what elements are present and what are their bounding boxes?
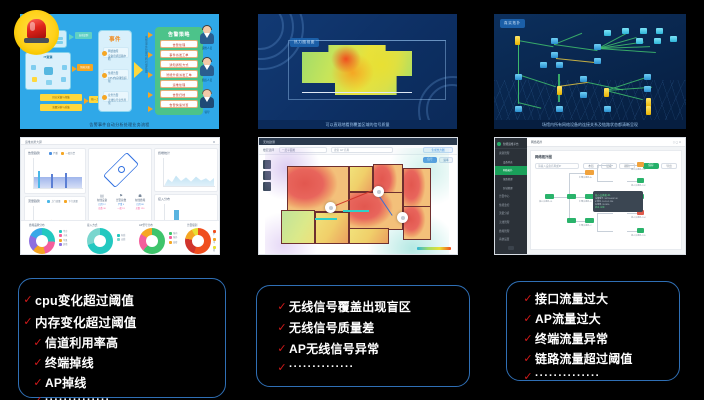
event-item-desc: CPU内存阈值超限: [104, 75, 128, 83]
panel-title: 终端统计: [155, 149, 217, 155]
role-label: 值班人员: [197, 78, 217, 82]
sidebar-item-resources[interactable]: 资源管理: [495, 149, 527, 158]
arrow-icon: [148, 32, 153, 38]
topology-node: [580, 76, 587, 82]
bullet-dot-icon: [102, 51, 107, 56]
list-item: ✓ 终端掉线: [31, 354, 225, 371]
sidebar-collapse-button[interactable]: [508, 246, 514, 250]
caption-text: 场馆内所有网络设备的连接关系及链路状态都清晰呈现: [494, 120, 686, 129]
list-item-label: AP掉线: [45, 374, 86, 391]
check-icon: ✓: [521, 333, 535, 344]
arrow-icon: [69, 34, 74, 40]
topology-node: [622, 28, 629, 34]
ap-marker[interactable]: [325, 202, 336, 213]
main-content: 网络拓扑 ◻ ▢ ✕ 网络拓扑图 请输入设备名称或IP 布局 层级 刷新 保存 …: [527, 138, 685, 254]
network-topology-screenshot: 智能运维平台 资源管理 设备列表 网络拓扑 链路管理 区域管理 告警中心 性能监…: [494, 137, 686, 255]
role-label: 运维人员: [197, 46, 217, 50]
topology-node: [551, 52, 558, 58]
arrow-icon: [148, 72, 153, 78]
list-item-label: 无线信号质量差: [289, 319, 374, 336]
floor-baseline: [302, 92, 412, 93]
caption-text: 告警事件自动分析处理业务流程: [20, 120, 219, 129]
topology-tree-node[interactable]: [637, 178, 644, 183]
flow-card-it-resources: IT资源: [25, 52, 71, 90]
tab-bar: 网络拓扑 ◻ ▢ ✕: [527, 138, 685, 147]
network-topology-slide: 真实拓扑: [494, 14, 686, 120]
sidebar-item-link-mgmt[interactable]: 链路管理: [495, 175, 527, 184]
check-icon: ✓: [21, 294, 35, 305]
stat-value-2: 总数 36: [93, 206, 111, 210]
page-title: 网络拓扑图: [535, 154, 552, 159]
check-icon: ✓: [521, 313, 535, 324]
list-item: ✓ 链路流量超过阈值: [521, 350, 679, 367]
toolbar-level-button[interactable]: 层级: [601, 163, 617, 169]
alarm-strategy-panel: 告警策略 告警处理 事件派发工单 通知通知方式 智能升级派发工单 运维处理 告警…: [155, 27, 203, 115]
list-item: ✓ 信道利用率高: [31, 334, 225, 351]
topology-node-label: 核心交换机-01: [539, 200, 552, 203]
list-item-ellipsis: ··············: [289, 361, 354, 373]
sidebar-item-terminals[interactable]: 终端管理: [495, 226, 527, 235]
donut-label: 接入方式: [87, 223, 97, 227]
topology-node-label: 汇聚交换机-A: [579, 176, 591, 179]
flow-tag-smart-link: 智能关联: [77, 64, 93, 71]
list-item-label: 链路流量超过阈值: [535, 350, 633, 367]
topology-node: [644, 86, 651, 92]
strategy-item: 通知通知方式: [160, 60, 198, 68]
sidebar-item-traffic[interactable]: 流量分析: [495, 209, 527, 218]
arrow-icon: [134, 62, 143, 78]
topology-node: [594, 58, 601, 64]
ap-marker[interactable]: [397, 212, 408, 223]
beacon-base: [24, 38, 49, 43]
sidebar-item-device-list[interactable]: 设备列表: [495, 158, 527, 167]
export-button[interactable]: 导出: [661, 163, 677, 169]
topology-tree-node[interactable]: [637, 162, 644, 167]
strategy-item: 智能升级派发工单: [160, 70, 198, 78]
arrow-icon: [148, 92, 153, 98]
topology-tree-node[interactable]: [567, 194, 576, 199]
check-icon: ✓: [521, 293, 535, 304]
list-item-label: 无线信号覆盖出现盲区: [289, 298, 411, 315]
topology-tree-node[interactable]: [585, 170, 594, 175]
bullet-dot-icon: [102, 73, 107, 78]
list-item: ✓ AP流量过大: [521, 310, 679, 327]
list-item: ✓ ··············: [521, 370, 679, 382]
topology-node-label: 接入交换机-101: [631, 168, 646, 171]
ap-marker[interactable]: [373, 186, 384, 197]
list-item-ellipsis: ··············: [535, 370, 600, 382]
traffic-alarm-card: ✓ 接口流量过大 ✓ AP流量过大 ✓ 终端流量异常 ✓ 链路流量超过阈值 ✓ …: [506, 281, 680, 381]
sidebar-item-area-mgmt[interactable]: 区域管理: [495, 183, 527, 192]
decor-grid: [494, 80, 686, 120]
window-title: 无线勘测: [259, 138, 457, 144]
topology-node-label: 接入交换机-102: [631, 184, 646, 187]
list-item-label: 接口流量过大: [535, 290, 608, 307]
topology-node: [604, 88, 609, 97]
event-item: 网络故障 设备宕机链路中断: [103, 47, 129, 58]
list-item: ✓ cpu变化超过阈值: [21, 290, 225, 309]
chart-legend: 上行流量 下行流量: [47, 199, 78, 203]
donut-legend: 室内 室外 高密: [169, 232, 177, 245]
donut-label: 终端品牌分布: [29, 223, 45, 227]
arrow-icon: [148, 106, 153, 112]
donut-legend: 有线 无线: [117, 234, 125, 243]
chart-legend: 严重 一般告警: [49, 151, 75, 155]
flow-card-it-resources-label: IT资源: [26, 55, 70, 59]
chart-panel-alarm-trend: 告警趋势 严重 一般告警: [24, 148, 86, 194]
sidebar-item-alarm-center[interactable]: 告警中心: [495, 192, 527, 201]
donut-label: AP型号分布: [139, 223, 153, 227]
topology-tree-node[interactable]: [545, 194, 554, 199]
topology-tree-node[interactable]: [637, 228, 644, 233]
topology-node-label: 汇聚交换机-B: [579, 200, 591, 203]
caption-text: 可以直观地看到覆盖区域的信号质量: [258, 120, 457, 129]
app-logo: 智能运维平台: [495, 138, 527, 149]
check-icon: ✓: [21, 316, 35, 327]
window-controls[interactable]: ◻ ▢ ✕: [673, 141, 681, 144]
check-icon: ✓: [275, 322, 289, 333]
topology-node-label: 接入交换机-105: [631, 234, 646, 237]
list-item-label: 终端掉线: [45, 354, 94, 371]
strategy-item: 告警归档: [160, 90, 198, 98]
search-input[interactable]: 请输入设备名称或IP: [535, 163, 579, 169]
donut-chart: [29, 228, 55, 254]
list-item-label: 终端流量异常: [535, 330, 608, 347]
list-item: ✓ 接口流量过大: [521, 290, 679, 307]
window-titlebar: 无线勘测: [259, 138, 457, 145]
check-icon: ✓: [275, 301, 289, 312]
list-item-label: cpu变化超过阈值: [35, 290, 134, 309]
list-item: ✓ AP掉线: [31, 374, 225, 391]
flow-tag-auto-identify: 自动识别: [75, 32, 92, 39]
event-item-desc: 无线信号业务异常: [104, 97, 128, 105]
topology-node: [580, 92, 587, 98]
avatar-male-icon: [199, 90, 215, 110]
list-item: ✓ 内存变化超过阈值: [21, 312, 225, 331]
tooltip-title: 核心交换机-01: [595, 193, 641, 197]
alarm-beacon-icon: [14, 10, 59, 55]
room-zone: [349, 228, 389, 244]
check-icon: ✓: [31, 395, 45, 400]
tooltip-row: 状态: 在线: [595, 207, 641, 210]
wifi-heatmap-screenshot: 无线勘测 楼层选择 一层平面图 搜索 AP 名称 生成热力图 信号 速率: [258, 137, 458, 255]
logo-mark-icon: [497, 142, 501, 146]
wall-highlight: [343, 210, 369, 212]
topology-node-label: 接入交换机-104: [631, 216, 646, 219]
beacon-dome: [27, 19, 46, 39]
window-title: 运维态势大屏: [21, 138, 219, 144]
caption-bar: 可以直观地看到覆盖区域的信号质量: [258, 120, 457, 129]
donut-label: 告警级别: [187, 223, 197, 227]
topology-node-label: 汇聚交换机-C: [579, 224, 592, 227]
topology-node: [540, 62, 547, 68]
chart-panel-terminal-stats: 终端统计: [154, 148, 218, 192]
room-zone: [403, 206, 431, 240]
donut-chart: [139, 228, 165, 254]
tab-network-topology[interactable]: 网络拓扑: [531, 140, 542, 144]
topology-node: [515, 106, 522, 112]
avatar-female-icon: [199, 58, 215, 78]
check-icon: ✓: [521, 371, 535, 382]
flow-card-traffic-collect: 流量分析与采集: [40, 104, 82, 111]
topology-node: [515, 74, 522, 80]
topology-node: [515, 36, 520, 45]
list-item-label: AP无线信号异常: [289, 340, 379, 357]
donut-legend: 华为 小米 苹果 其他: [59, 230, 67, 248]
event-panel: 事件 网络故障 设备宕机链路中断 性能告警 CPU内存阈值超限 业务告警 无线信…: [98, 30, 132, 112]
event-item: 业务告警 无线信号业务异常: [103, 91, 129, 102]
strategy-item: 告警快速处置: [160, 100, 198, 108]
event-panel-title: 事件: [99, 35, 131, 43]
sidebar: 智能运维平台 资源管理 设备列表 网络拓扑 链路管理 区域管理 告警中心 性能监…: [495, 138, 527, 254]
slide-canvas: 告警接收与采集 自动识别 IT资源 智能关联 日志采集与归集 流量分析与采集 统…: [0, 0, 704, 400]
topology-node: [594, 44, 601, 50]
ops-dashboard-screenshot: 运维态势大屏 告警趋势 严重 一般告警 流量趋势 上行流量 下行流量: [20, 137, 220, 255]
check-icon: ✓: [521, 353, 535, 364]
strategy-item: 告警处理: [160, 40, 198, 48]
sidebar-item-performance[interactable]: 性能监控: [495, 201, 527, 210]
caption-bar: 告警事件自动分析处理业务流程: [20, 120, 219, 129]
arrow-icon: [148, 52, 153, 58]
donut-legend: 严 中 轻 危: [213, 230, 219, 255]
flow-card-log-collect: 日志采集与归集: [40, 94, 82, 101]
heat-scale-legend: [417, 247, 451, 250]
alarm-strategy-title: 告警策略: [157, 31, 201, 38]
list-item: ✓ ··············: [275, 361, 469, 373]
wireless-alarm-card: ✓ 无线信号覆盖出现盲区 ✓ 无线信号质量差 ✓ AP无线信号异常 ✓ ····…: [256, 285, 470, 387]
room-zone: [281, 210, 315, 244]
list-item: ✓ AP无线信号异常: [275, 340, 469, 357]
list-item: ✓ 终端流量异常: [521, 330, 679, 347]
topology-node: [654, 38, 661, 44]
topology-node: [604, 106, 611, 112]
event-item-desc: 设备宕机链路中断: [104, 53, 128, 61]
topology-node: [656, 28, 663, 34]
window-titlebar: 运维态势大屏: [21, 138, 219, 145]
stat-value-2: 总数 120: [131, 206, 149, 210]
check-icon: ✓: [31, 337, 45, 348]
sidebar-item-wireless[interactable]: 无线管理: [495, 218, 527, 227]
engine-vertical-label: 告警事件智能分析引擎处理: [144, 36, 147, 108]
list-item-label: AP流量过大: [535, 310, 601, 327]
list-item-label: 内存变化超过阈值: [35, 312, 137, 331]
topology-node: [551, 38, 558, 44]
caption-bar: 场馆内所有网络设备的连接关系及链路状态都清晰呈现: [494, 120, 686, 129]
sidebar-item-settings[interactable]: 系统设置: [495, 235, 527, 244]
topology-view-chip: 真实拓扑: [500, 19, 525, 28]
list-item-ellipsis: ··············: [45, 394, 110, 400]
topology-canvas[interactable]: 网络拓扑图 请输入设备名称或IP 布局 层级 刷新 保存 导出: [530, 150, 682, 250]
topology-node: [670, 36, 677, 42]
check-icon: ✓: [31, 357, 45, 368]
topology-node: [604, 30, 611, 36]
topology-node: [636, 38, 643, 44]
panel-title: 接入分布: [155, 195, 217, 201]
node-tooltip: 核心交换机-01 设备型号: S5730-48C-SI IP地址: 10.10.…: [593, 191, 643, 212]
list-item-label: 信道利用率高: [45, 334, 118, 351]
strategy-item: 事件派发工单: [160, 50, 198, 58]
topology-node: [646, 106, 651, 115]
check-icon: ✓: [275, 362, 289, 373]
topology-node: [557, 86, 562, 95]
topology-tree-node[interactable]: [585, 218, 594, 223]
sidebar-item-network-topology[interactable]: 网络拓扑: [495, 166, 527, 175]
room-zone: [349, 166, 373, 192]
wifi-heatmap-slide: 热力图视图: [258, 14, 457, 120]
wall-highlight: [315, 218, 337, 220]
floorplan-heatmap[interactable]: [281, 162, 433, 248]
check-icon: ✓: [31, 377, 45, 388]
topology-node: [556, 62, 563, 68]
topology-node: [644, 74, 651, 80]
topology-tree-node[interactable]: [567, 218, 576, 223]
topology-node: [640, 28, 647, 34]
room-zone: [315, 212, 349, 244]
performance-alarm-card: ✓ cpu变化超过阈值 ✓ 内存变化超过阈值 ✓ 信道利用率高 ✓ 终端掉线 ✓…: [18, 278, 226, 398]
stat-value-2: 一般 19: [112, 206, 130, 210]
room-zone: [287, 166, 349, 212]
donut-chart: [87, 228, 113, 254]
app-logo-text: 智能运维平台: [503, 142, 519, 146]
event-item: 性能告警 CPU内存阈值超限: [103, 69, 129, 80]
list-item: ✓ 无线信号覆盖出现盲区: [275, 298, 469, 315]
diamond-core-icon: [118, 166, 125, 173]
topology-node: [556, 106, 563, 112]
list-item: ✓ 无线信号质量差: [275, 319, 469, 336]
check-icon: ✓: [275, 343, 289, 354]
strategy-item: 运维处理: [160, 80, 198, 88]
avatar-female-icon: [199, 26, 215, 46]
donut-chart: [185, 228, 211, 254]
bullet-dot-icon: [102, 95, 107, 100]
list-item: ✓ ··············: [31, 394, 225, 400]
role-label: 领导: [197, 110, 217, 114]
